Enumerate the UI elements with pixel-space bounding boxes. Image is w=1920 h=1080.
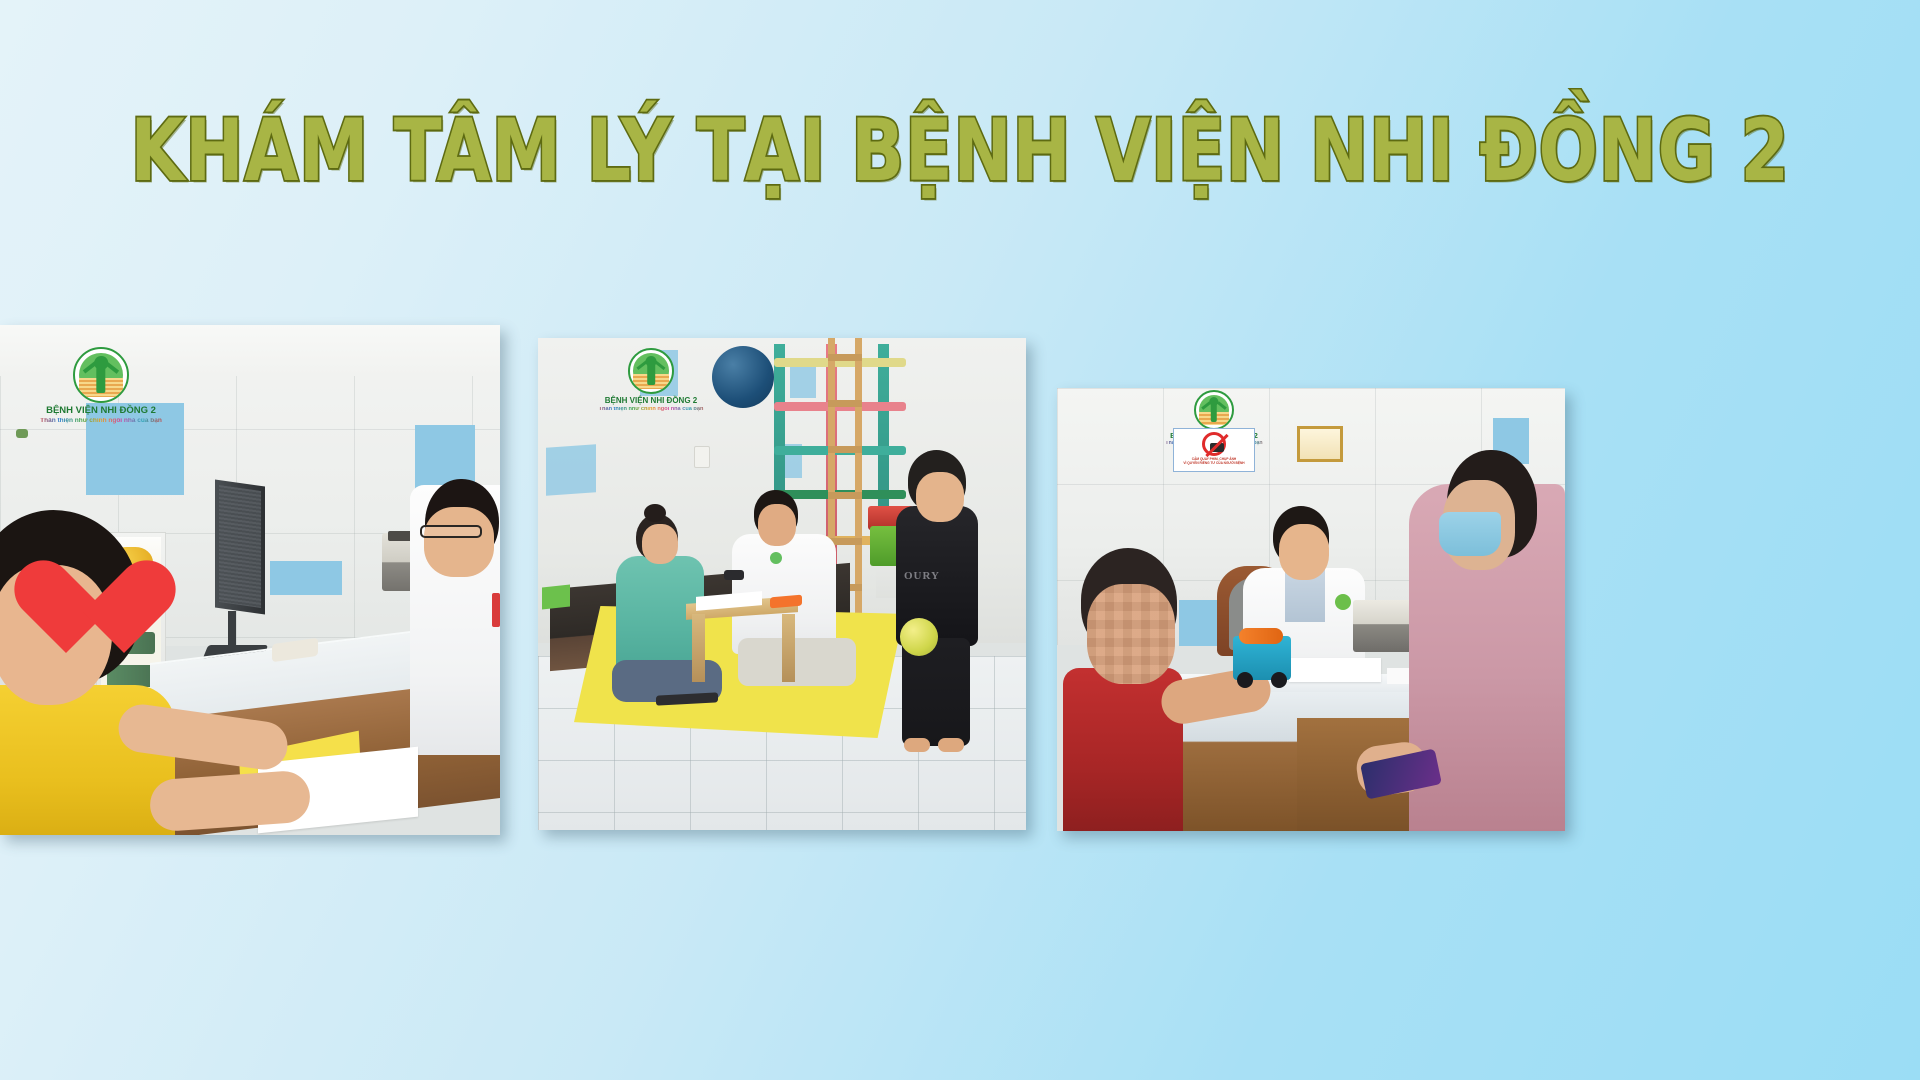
no-camera-icon (1202, 432, 1226, 456)
heart-sticker-overlay (38, 563, 150, 663)
camera-glyph (1210, 443, 1224, 452)
hospital-logo-name: BỆNH VIỆN NHI ĐỒNG 2 (36, 406, 166, 416)
ladder-rung (828, 354, 862, 361)
toy-orange-roller (1239, 628, 1283, 644)
ladder-rung (828, 492, 862, 499)
page-title: KHÁM TÂM LÝ TẠI BỆNH VIỆN NHI ĐỒNG 2 (130, 108, 1789, 195)
page-title-wrap: KHÁM TÂM LÝ TẠI BỆNH VIỆN NHI ĐỒNG 2 (0, 108, 1920, 179)
doctor-pen (492, 593, 500, 627)
sign-line-2: VÌ QUYỀN RIÊNG TƯ CỦA NGƯỜI BỆNH (1174, 461, 1254, 465)
photo-card-3[interactable]: BỆNH VIỆN NHI ĐỒNG 2 Thân thiện như chín… (1057, 388, 1565, 831)
logo-head (94, 356, 108, 370)
ladder-rung (828, 400, 862, 407)
photo-3-scene: BỆNH VIỆN NHI ĐỒNG 2 Thân thiện như chín… (1057, 388, 1565, 831)
hospital-logo-icon (628, 348, 674, 394)
child-face-blurred (1087, 584, 1175, 684)
blue-wall-tile (270, 561, 342, 595)
photo-card-2[interactable]: BỆNH VIỆN NHI ĐỒNG 2 Thân thiện như chín… (538, 338, 1026, 830)
doctor-face (424, 507, 494, 577)
hospital-logo-icon (1194, 390, 1234, 430)
hospital-logo-watermark-2: BỆNH VIỆN NHI ĐỒNG 2 Thân thiện như chín… (592, 348, 710, 413)
doctor-logo-badge (1335, 594, 1351, 610)
toy-wheel (1271, 672, 1287, 688)
mother-hair-bun (644, 504, 666, 522)
doctor-glasses (420, 525, 482, 538)
medical-records (1289, 658, 1381, 682)
photo-2-scene: BỆNH VIỆN NHI ĐỒNG 2 Thân thiện như chín… (538, 338, 1026, 830)
hospital-logo-icon (73, 347, 129, 403)
wall-sticker (16, 429, 28, 438)
computer-monitor (215, 479, 265, 614)
hospital-logo-tagline: Thân thiện như chính ngôi nhà của bạn (592, 407, 710, 413)
monitor-screen (219, 485, 261, 608)
blue-wall-tile (546, 444, 596, 495)
no-photography-sign: CẤM QUAY PHIM, CHỤP ẢNH VÌ QUYỀN RIÊNG T… (1173, 428, 1255, 472)
photo-card-1[interactable]: BỆNH VIỆN NHI ĐỒNG 2 Thân thiện như chín… (0, 325, 500, 835)
mother-face (642, 524, 678, 564)
doctor-logo-badge (770, 552, 782, 564)
photo-1-scene: BỆNH VIỆN NHI ĐỒNG 2 Thân thiện như chín… (0, 325, 500, 835)
blue-exercise-ball (712, 346, 774, 408)
doctor-wristwatch (724, 570, 744, 580)
yellow-green-ball (900, 618, 938, 656)
table-leg (692, 614, 705, 682)
ladder-rung (828, 446, 862, 453)
hospital-logo-name: BỆNH VIỆN NHI ĐỒNG 2 (592, 397, 710, 405)
wall-socket (694, 446, 710, 468)
child-face (916, 472, 964, 522)
child-foot (938, 738, 964, 752)
framed-certificate (1297, 426, 1343, 462)
logo-head (646, 356, 657, 367)
doctor-legs (738, 638, 856, 686)
child-shirt-text: OURY (904, 570, 940, 582)
green-foam-tile (542, 585, 570, 610)
hospital-logo-tagline: Thân thiện như chính ngôi nhà của bạn (36, 418, 166, 425)
doctor-face (758, 504, 796, 546)
child-foot (904, 738, 930, 752)
face-mask (1439, 512, 1501, 556)
doctor-face (1279, 524, 1329, 580)
hospital-logo-watermark-1: BỆNH VIỆN NHI ĐỒNG 2 Thân thiện như chín… (36, 347, 166, 424)
toy-wheel (1237, 672, 1253, 688)
table-leg (782, 614, 795, 682)
